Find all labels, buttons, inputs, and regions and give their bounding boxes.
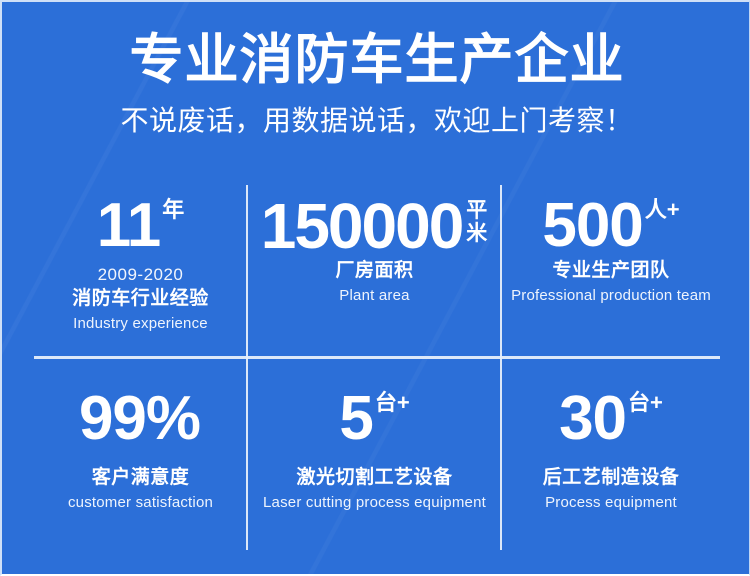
stat-label-cn: 客户满意度 <box>34 466 247 490</box>
stat-label-en: Laser cutting process equipment <box>247 493 502 512</box>
stat-value-group: 99% <box>34 370 247 450</box>
stat-year-range: 2009-2020 <box>34 265 247 285</box>
stat-unit: 人+ <box>643 195 680 221</box>
stat-value-group: 30 台+ <box>502 370 720 450</box>
stat-label-cn: 厂房面积 <box>247 259 502 283</box>
stat-label-en: Professional production team <box>502 286 720 305</box>
stat-number: 150000 <box>261 195 463 257</box>
stat-number: 30 <box>559 388 626 450</box>
stat-unit <box>200 388 202 392</box>
stat-value-group: 5 台+ <box>247 370 502 450</box>
stat-value-group: 11 年 <box>34 185 247 257</box>
stat-cell-laser-cutting-equipment: 5 台+ 激光切割工艺设备 Laser cutting process equi… <box>247 370 502 550</box>
page-title: 专业消防车生产企业 <box>2 28 750 92</box>
stats-grid: 11 年 2009-2020 消防车行业经验 Industry experien… <box>34 185 720 550</box>
stat-cell-plant-area: 150000 平米 厂房面积 Plant area <box>247 185 502 356</box>
page-subtitle: 不说废话，用数据说话，欢迎上门考察！ <box>2 104 750 138</box>
stat-cell-production-team: 500 人+ 专业生产团队 Professional production te… <box>502 185 720 356</box>
stat-label-cn: 消防车行业经验 <box>34 287 247 311</box>
stat-label-en: Plant area <box>247 286 502 305</box>
stat-number: 11 <box>97 195 161 257</box>
stat-label-cn: 激光切割工艺设备 <box>247 466 502 490</box>
stat-label-en: Process equipment <box>502 493 720 512</box>
stat-unit: 台+ <box>626 388 663 414</box>
stat-unit: 平米 <box>462 195 488 245</box>
stat-number: 5 <box>339 388 372 450</box>
stat-number: 99% <box>79 388 200 450</box>
stats-row-top: 11 年 2009-2020 消防车行业经验 Industry experien… <box>34 185 720 356</box>
stat-cell-industry-experience: 11 年 2009-2020 消防车行业经验 Industry experien… <box>34 185 247 356</box>
promo-banner: 专业消防车生产企业 不说废话，用数据说话，欢迎上门考察！ 11 年 2009-2… <box>0 0 750 576</box>
stat-label-cn: 专业生产团队 <box>502 259 720 283</box>
stat-cell-customer-satisfaction: 99% 客户满意度 customer satisfaction <box>34 370 247 550</box>
stat-cell-process-equipment: 30 台+ 后工艺制造设备 Process equipment <box>502 370 720 550</box>
stat-label-en: Industry experience <box>34 314 247 333</box>
horizontal-divider <box>34 356 720 359</box>
stat-value-group: 500 人+ <box>502 185 720 257</box>
banner-header: 专业消防车生产企业 不说废话，用数据说话，欢迎上门考察！ <box>2 28 750 138</box>
stats-row-bottom: 99% 客户满意度 customer satisfaction 5 台+ 激光切… <box>34 370 720 550</box>
stat-label-en: customer satisfaction <box>34 493 247 512</box>
stat-unit: 台+ <box>373 388 410 414</box>
stat-unit: 年 <box>160 195 184 221</box>
stat-number: 500 <box>542 195 642 257</box>
stat-value-group: 150000 平米 <box>247 185 502 257</box>
stat-label-cn: 后工艺制造设备 <box>502 466 720 490</box>
